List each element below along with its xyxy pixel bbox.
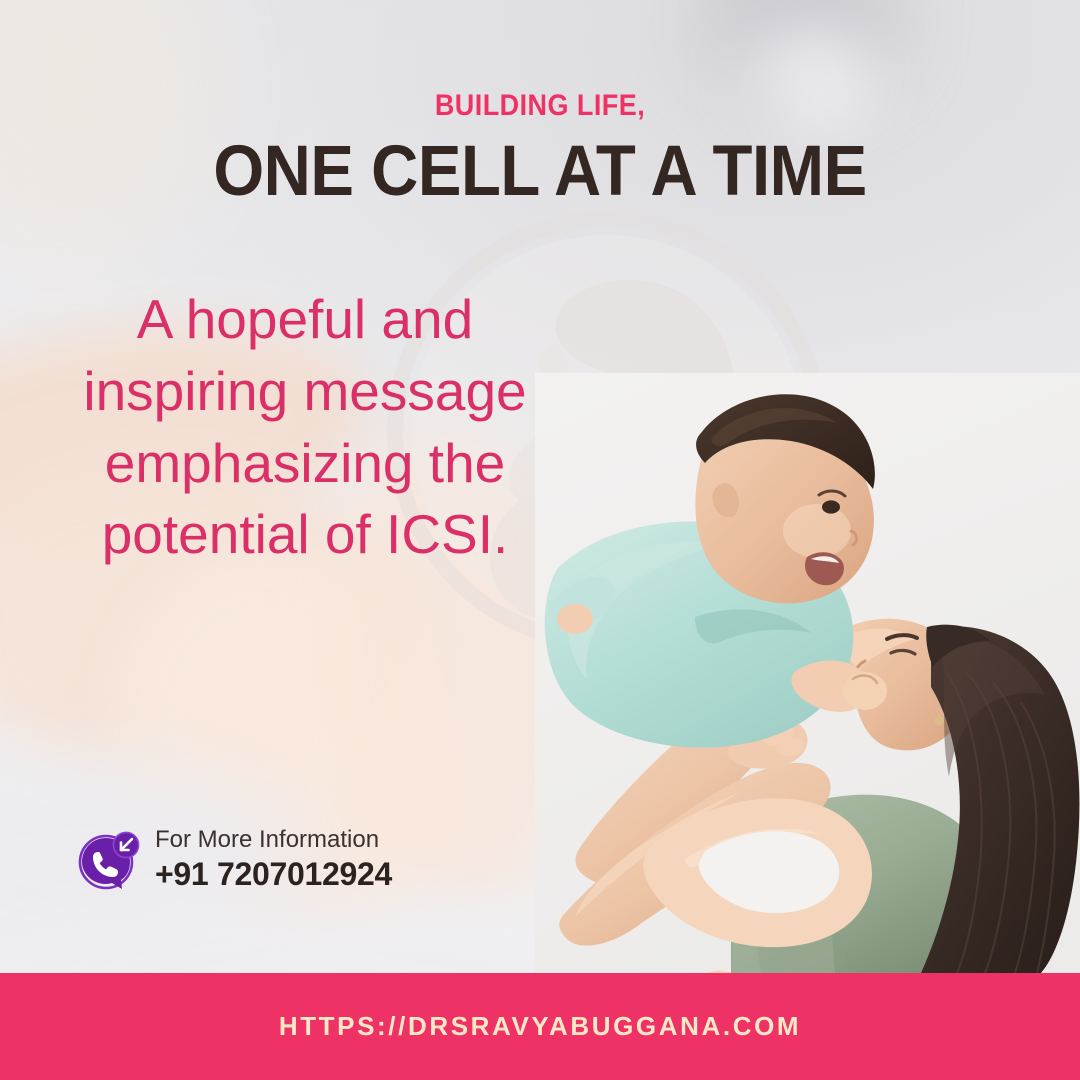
incoming-call-icon xyxy=(76,826,142,892)
website-url[interactable]: HTTPS://DRSRAVYABUGGANA.COM xyxy=(279,1011,801,1042)
mother-lifting-baby-photo xyxy=(535,373,1080,973)
body-copy: A hopeful and inspiring message emphasiz… xyxy=(62,284,548,571)
contact-block[interactable]: For More Information +91 7207012924 xyxy=(76,826,392,892)
contact-text: For More Information +91 7207012924 xyxy=(155,828,392,890)
contact-label: For More Information xyxy=(155,828,392,852)
footer-bar: HTTPS://DRSRAVYABUGGANA.COM xyxy=(0,973,1080,1080)
eyebrow-text: BUILDING LIFE, xyxy=(54,89,1026,123)
social-media-poster: BUILDING LIFE, ONE CELL AT A TIME A hope… xyxy=(0,0,1080,1080)
phone-number[interactable]: +91 7207012924 xyxy=(155,858,392,890)
page-title: ONE CELL AT A TIME xyxy=(43,135,1037,210)
